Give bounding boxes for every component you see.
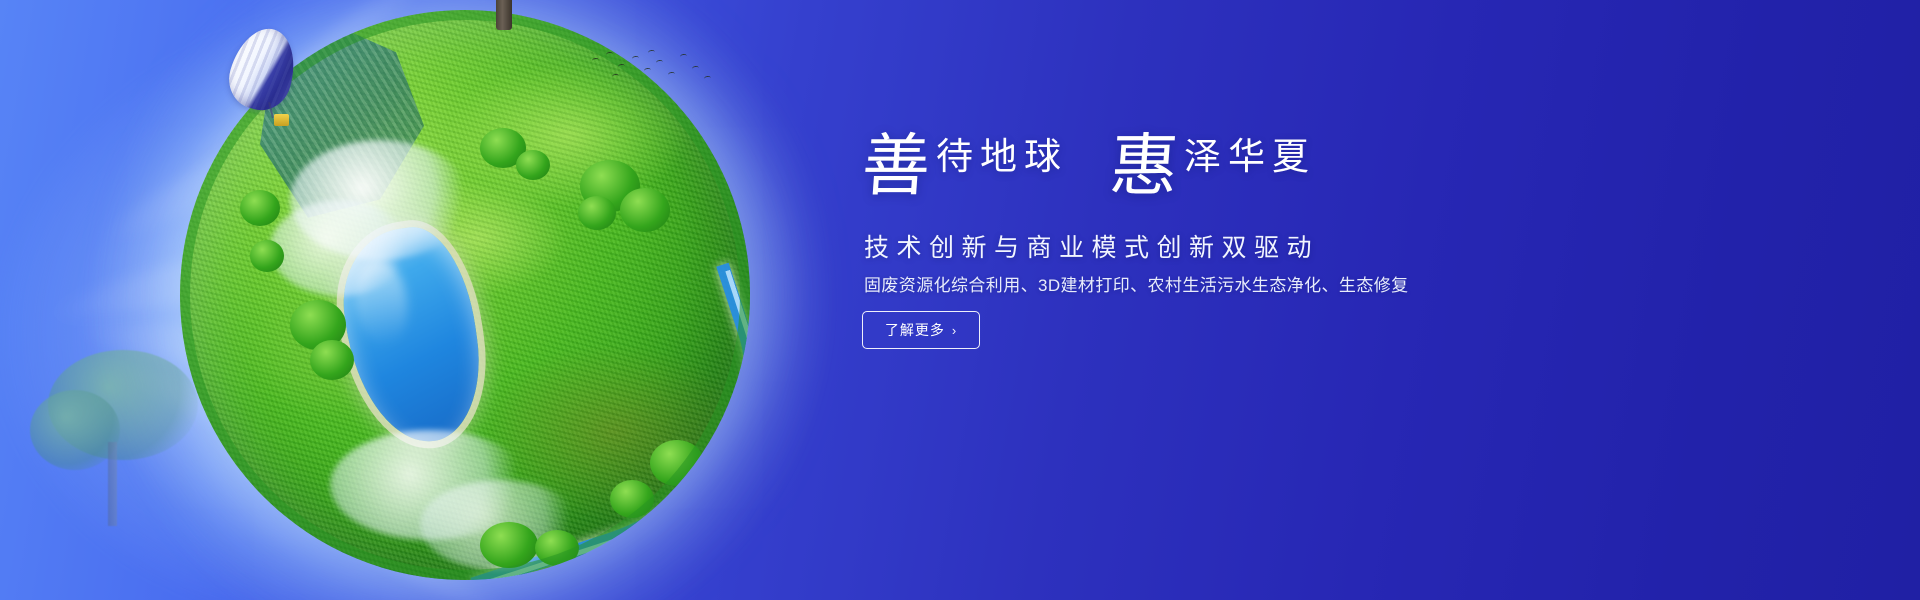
background-tree [30, 350, 210, 530]
bird-icon [644, 68, 652, 74]
tree-trunk [108, 442, 117, 526]
hero-subtitle: 技术创新与商业模式创新双驱动 [864, 228, 1319, 264]
bird-icon [606, 52, 614, 58]
bird-icon [632, 56, 640, 62]
bird-icon [592, 58, 600, 64]
hero-headline: 善待地球惠泽华夏 [862, 133, 1262, 225]
balloon-basket [274, 114, 289, 126]
headline-char-2: 惠 [1108, 133, 1181, 201]
learn-more-label: 了解更多 [885, 320, 945, 340]
bird-icon [618, 64, 626, 70]
balloon-ribs [222, 21, 304, 117]
tall-tree [390, 0, 620, 40]
hot-air-balloon [232, 28, 302, 136]
bird-icon [656, 60, 664, 66]
bird-icon [704, 76, 712, 82]
hero-content: 善待地球惠泽华夏 技术创新与商业模式创新双驱动 固废资源化综合利用、3D建材打印… [862, 0, 1842, 600]
chevron-right-icon: › [952, 324, 957, 337]
hero-banner: 善待地球惠泽华夏 技术创新与商业模式创新双驱动 固废资源化综合利用、3D建材打印… [0, 0, 1920, 600]
learn-more-button[interactable]: 了解更多 › [862, 311, 980, 349]
headline-text-2: 泽华夏 [1184, 138, 1316, 175]
bird-icon [612, 74, 620, 80]
tree-canopy [30, 390, 120, 470]
bird-icon [692, 66, 700, 72]
headline-char-1: 善 [860, 133, 933, 201]
bird-icon [680, 54, 688, 60]
bird-flock [588, 48, 718, 96]
headline-text-1: 待地球 [936, 138, 1068, 175]
bird-icon [668, 72, 676, 78]
tree-trunk [496, 0, 512, 30]
hero-description: 固废资源化综合利用、3D建材打印、农村生活污水生态净化、生态修复 [864, 271, 1409, 296]
bird-icon [648, 50, 656, 56]
